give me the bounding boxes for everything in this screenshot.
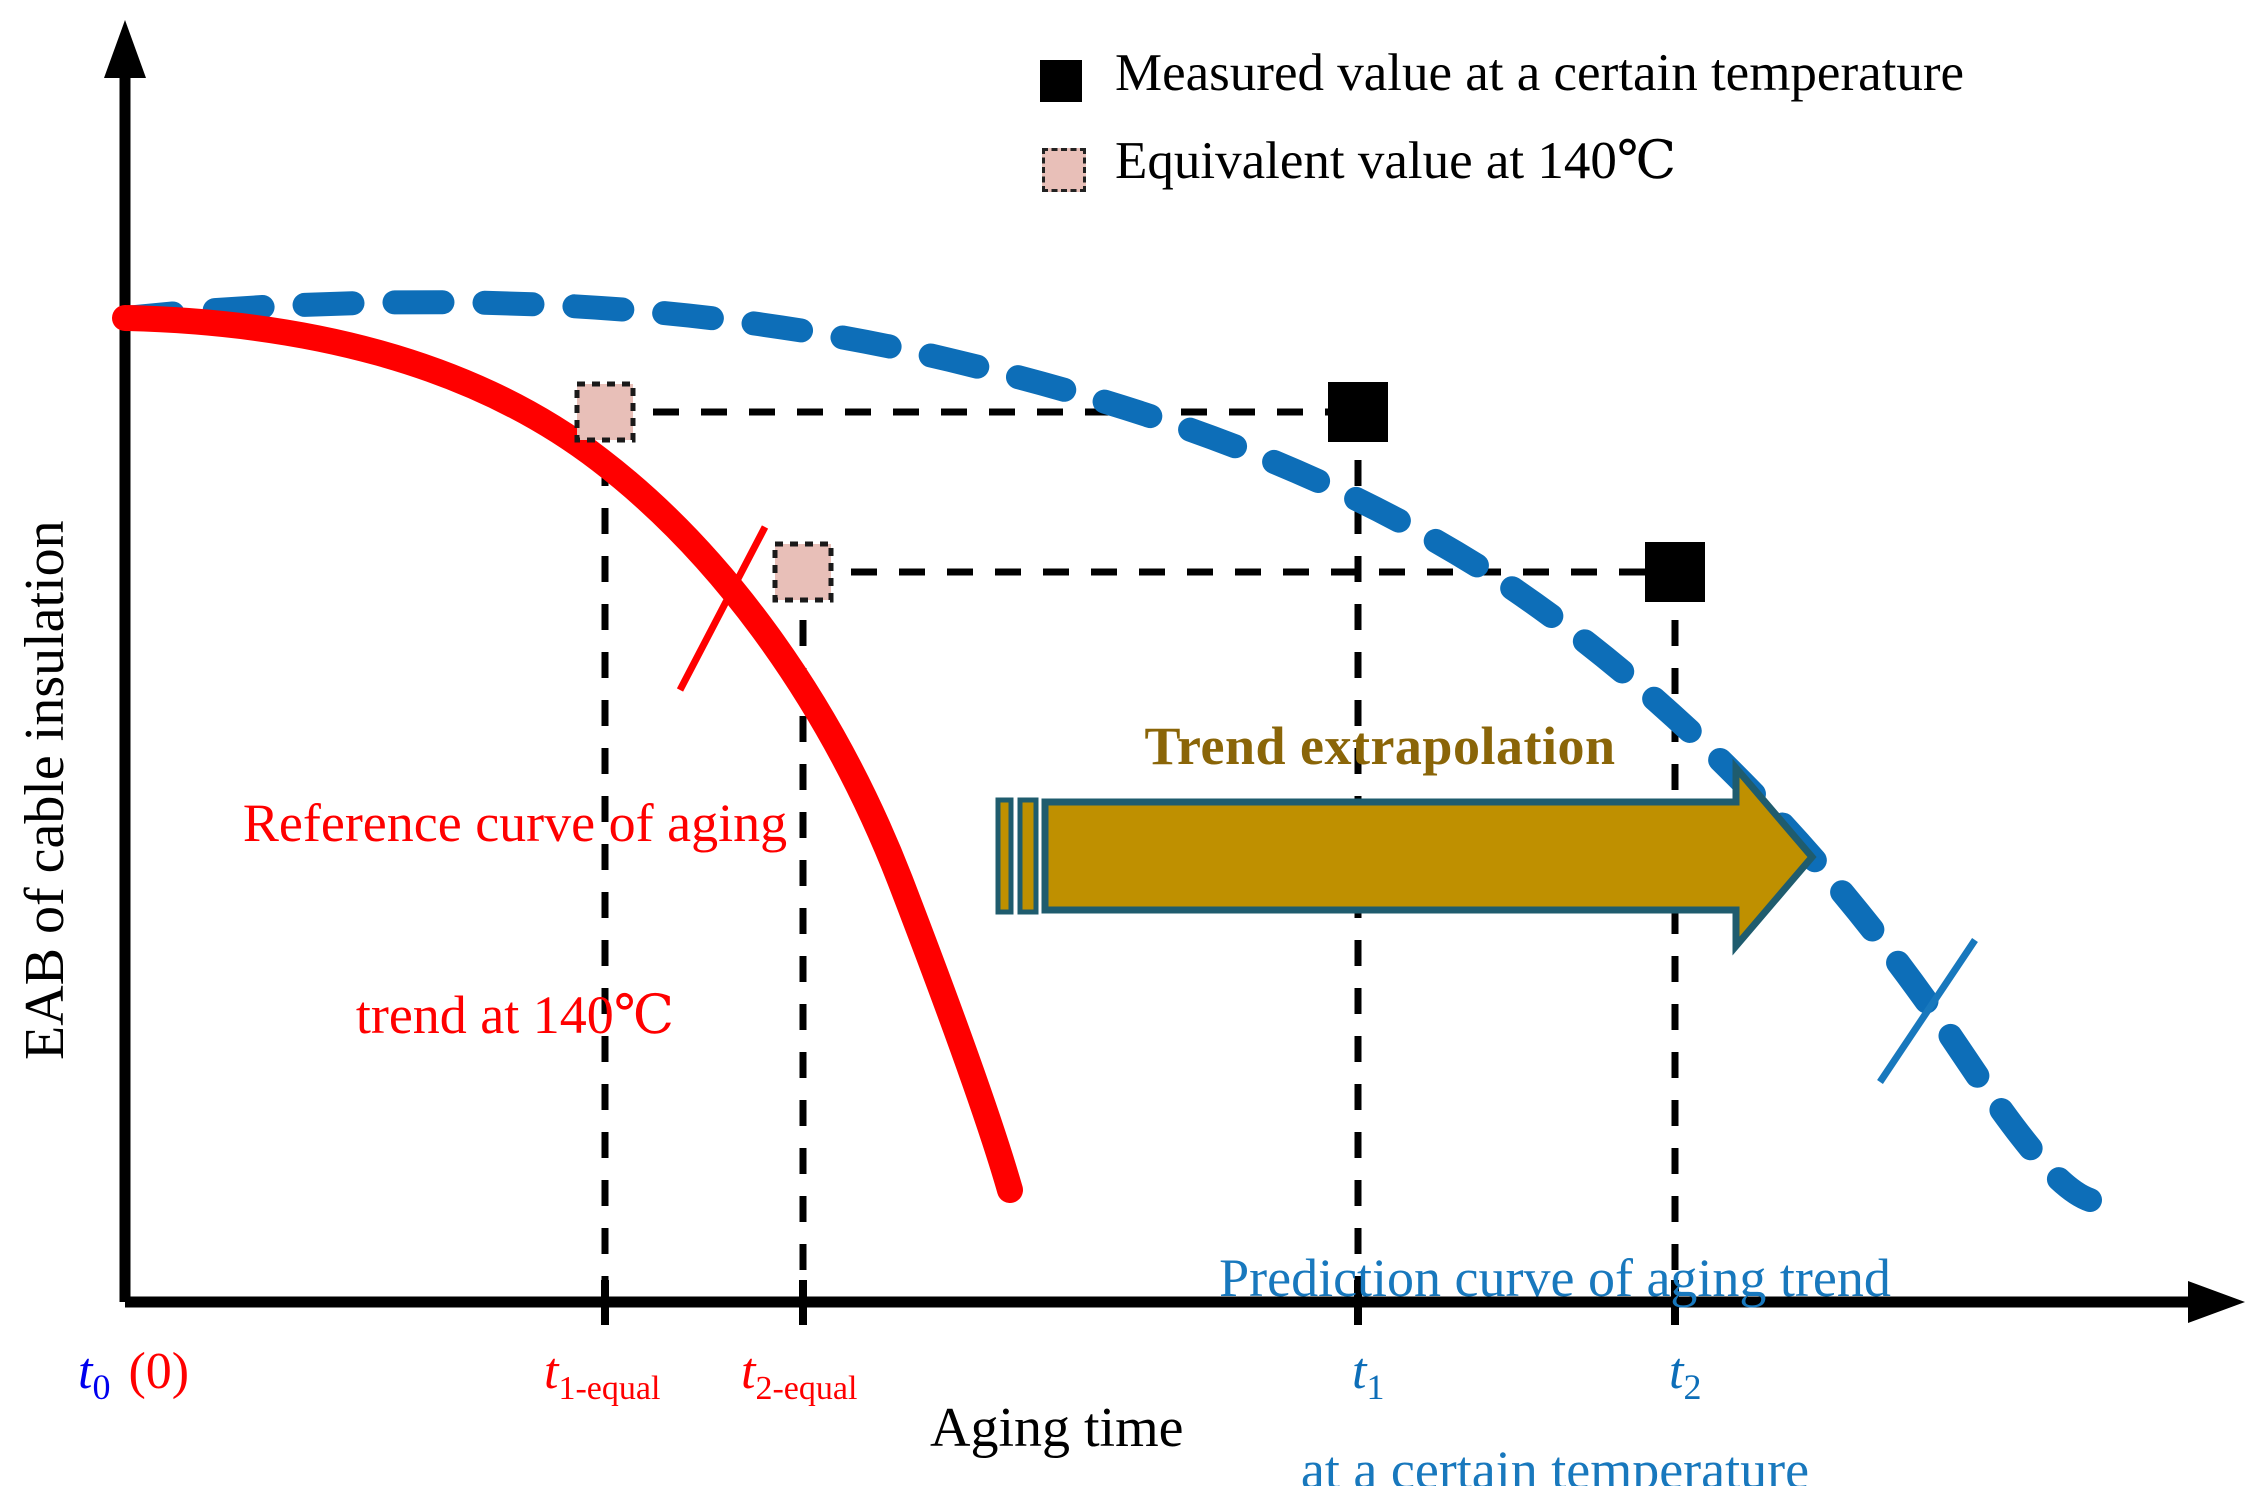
marker-equivalent-t2-equal <box>775 544 831 600</box>
x-tick-label-t1: t1 <box>1336 1322 1384 1421</box>
marker-equivalent-t1-equal <box>577 384 633 440</box>
x-tick-label-t0: t0(0) <box>62 1322 189 1421</box>
legend-label-measured-value: Measured value at a certain temperature <box>1115 42 1964 105</box>
x-tick-label-t0-symbol: t <box>78 1343 92 1400</box>
x-tick-label-t2-symbol: t <box>1669 1343 1683 1400</box>
marker-measured-t1 <box>1328 382 1388 442</box>
x-axis-arrowhead <box>2188 1281 2245 1323</box>
annotation-trend-extrapolation: Trend extrapolation <box>1000 715 1760 779</box>
x-tick-label-t2-equal-symbol: t <box>741 1343 755 1400</box>
x-tick-label-t1-equal-subscript: 1-equal <box>558 1370 660 1407</box>
legend-swatch-measured-value <box>1040 60 1082 102</box>
x-tick-label-t2: t2 <box>1653 1322 1701 1421</box>
legend-label-equivalent-value: Equivalent value at 140℃ <box>1115 130 1676 193</box>
arrow-tail-bar-2 <box>1020 800 1036 912</box>
x-axis-title: Aging time <box>930 1395 1184 1461</box>
legend-swatch-equivalent-value <box>1042 148 1086 192</box>
x-tick-label-t1-equal-symbol: t <box>544 1343 558 1400</box>
x-tick-label-t2-subscript: 2 <box>1683 1367 1701 1407</box>
x-tick-label-t2-equal-subscript: 2-equal <box>755 1370 857 1407</box>
y-axis-arrowhead <box>104 20 146 78</box>
y-axis-title: EAB of cable insulation <box>12 520 78 1060</box>
annotation-prediction-curve-line1: Prediction curve of aging trend <box>1110 1247 2000 1311</box>
annotation-prediction-curve: Prediction curve of aging trend at a cer… <box>1110 1120 2000 1486</box>
arrow-tail-bar-1 <box>998 800 1011 912</box>
x-tick-label-t0-subscript: 0 <box>92 1367 110 1407</box>
x-tick-label-t1-symbol: t <box>1352 1343 1366 1400</box>
marker-measured-t2 <box>1645 542 1705 602</box>
x-tick-label-t1-equal: t1-equal <box>528 1322 660 1421</box>
annotation-reference-curve: Reference curve of aging trend at 140℃ <box>150 665 880 1175</box>
arrow-body <box>1045 768 1812 946</box>
trend-extrapolation-arrow <box>998 768 1812 946</box>
annotation-reference-curve-line1: Reference curve of aging <box>150 792 880 856</box>
x-tick-label-t1-subscript: 1 <box>1366 1367 1384 1407</box>
annotation-reference-curve-line2: trend at 140℃ <box>150 984 880 1048</box>
x-tick-label-t0-extra: (0) <box>128 1343 189 1400</box>
figure-canvas: Measured value at a certain temperature … <box>0 0 2259 1486</box>
annotation-prediction-curve-line2: at a certain temperature <box>1110 1439 2000 1486</box>
x-tick-label-t2-equal: t2-equal <box>725 1322 857 1421</box>
